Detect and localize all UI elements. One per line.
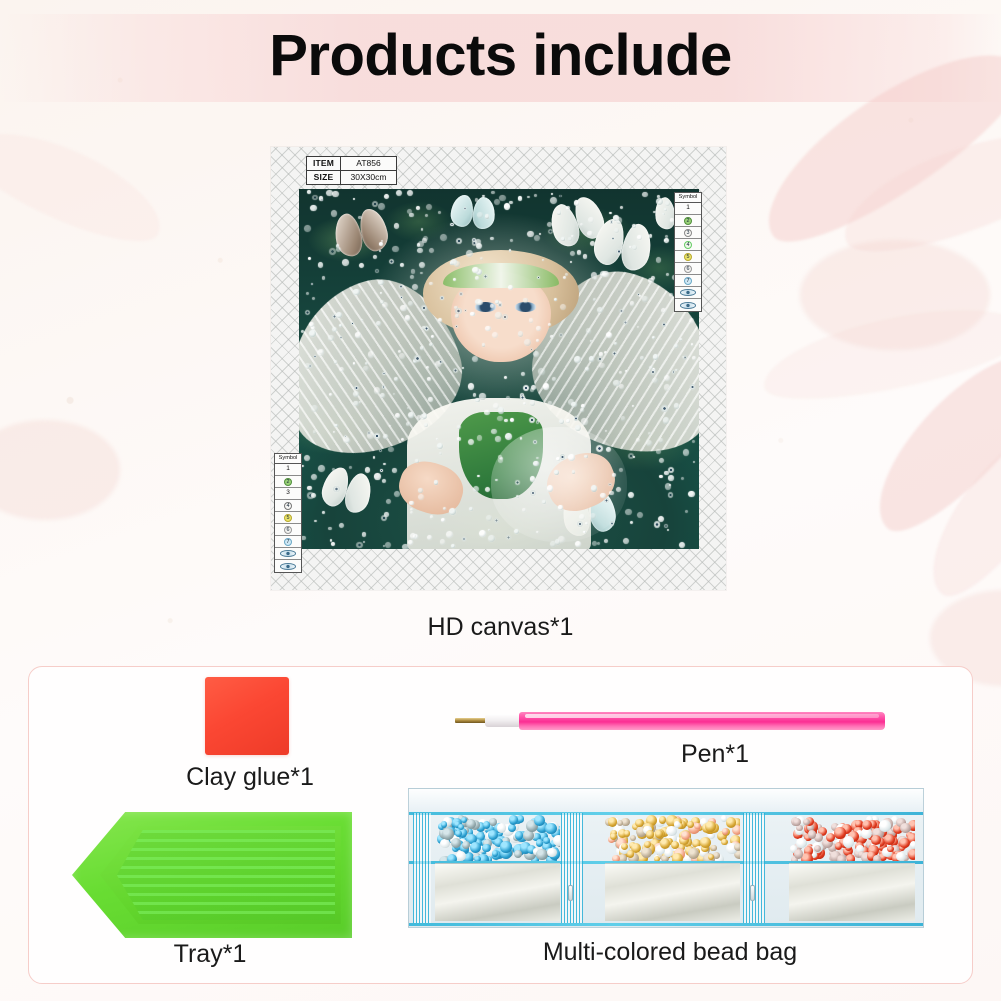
hd-canvas-image: ITEM AT856 SIZE 30X30cm Symbol 1 2 3 4 5… — [271, 147, 726, 590]
bead-bag-image — [408, 788, 924, 928]
spec-size-value: 30X30cm — [341, 171, 397, 185]
pen-collar — [485, 714, 523, 727]
bead-compartment-red — [789, 815, 915, 861]
legend-row: 2 — [275, 476, 301, 488]
bead-compartment-gold — [605, 815, 740, 861]
bag-top-sheen — [409, 789, 923, 812]
tray-grooves — [117, 830, 335, 921]
canvas-spec-table: ITEM AT856 SIZE 30X30cm — [306, 156, 397, 185]
eye-symbol-icon — [280, 563, 296, 570]
caption-clay-glue: Clay glue*1 — [110, 763, 390, 792]
legend-row: 3 — [275, 488, 301, 500]
legend-row: 6 — [275, 524, 301, 536]
legend-row-eye — [675, 287, 701, 299]
legend-row: 5 — [275, 512, 301, 524]
legend-row: 2 — [675, 215, 701, 227]
beads-blue — [435, 815, 560, 861]
spec-size-label: SIZE — [307, 171, 341, 185]
legend-row: 7 — [675, 275, 701, 287]
spec-item-value: AT856 — [341, 157, 397, 171]
legend-row-eye — [275, 548, 301, 560]
legend-row: 4 — [675, 239, 701, 251]
beads-red — [789, 815, 915, 861]
beads-gold — [605, 815, 740, 861]
symbol-legend-right: Symbol 1 2 3 4 5 6 7 — [674, 192, 702, 312]
pearl-bead-texture — [299, 189, 699, 549]
spec-item-label: ITEM — [307, 157, 341, 171]
legend-row: 1 — [275, 464, 301, 476]
legend-row: 3 — [675, 227, 701, 239]
foil-backing — [789, 863, 915, 921]
legend-header: Symbol — [675, 193, 701, 203]
bag-seam — [743, 813, 765, 923]
infographic-page: Products include — [0, 0, 1001, 1001]
legend-row-eye — [675, 299, 701, 311]
eye-symbol-icon — [280, 550, 296, 557]
eye-symbol-icon — [680, 302, 696, 309]
bag-seam — [561, 813, 583, 923]
canvas-adhesive-grid: ITEM AT856 SIZE 30X30cm Symbol 1 2 3 4 5… — [271, 147, 726, 590]
symbol-legend-left: Symbol 1 2 3 4 5 6 7 — [274, 453, 302, 573]
decorative-petal — [800, 240, 990, 350]
legend-header: Symbol — [275, 454, 301, 464]
page-title: Products include — [0, 22, 1001, 89]
pen-metal-tip — [455, 718, 489, 723]
bag-seam — [413, 813, 431, 923]
legend-row: 5 — [675, 251, 701, 263]
legend-row: 1 — [675, 203, 701, 215]
bead-compartment-blue — [435, 815, 560, 861]
caption-pen: Pen*1 — [600, 740, 830, 769]
legend-row: 7 — [275, 536, 301, 548]
caption-hd-canvas: HD canvas*1 — [0, 613, 1001, 642]
caption-tray: Tray*1 — [45, 940, 375, 969]
caption-bead-bag: Multi-colored bead bag — [420, 938, 920, 967]
legend-row: 6 — [675, 263, 701, 275]
eye-symbol-icon — [680, 289, 696, 296]
pen-image — [455, 710, 885, 732]
zip-tab — [750, 885, 755, 901]
pen-highlight — [525, 714, 879, 718]
legend-row: 4 — [275, 500, 301, 512]
clay-glue-image — [205, 677, 289, 755]
canvas-artwork — [299, 189, 699, 549]
legend-row-eye — [275, 560, 301, 572]
tray-image — [72, 812, 352, 938]
foil-backing — [435, 863, 560, 921]
zip-tab — [568, 885, 573, 901]
zip-seal — [409, 923, 923, 926]
foil-backing — [605, 863, 740, 921]
